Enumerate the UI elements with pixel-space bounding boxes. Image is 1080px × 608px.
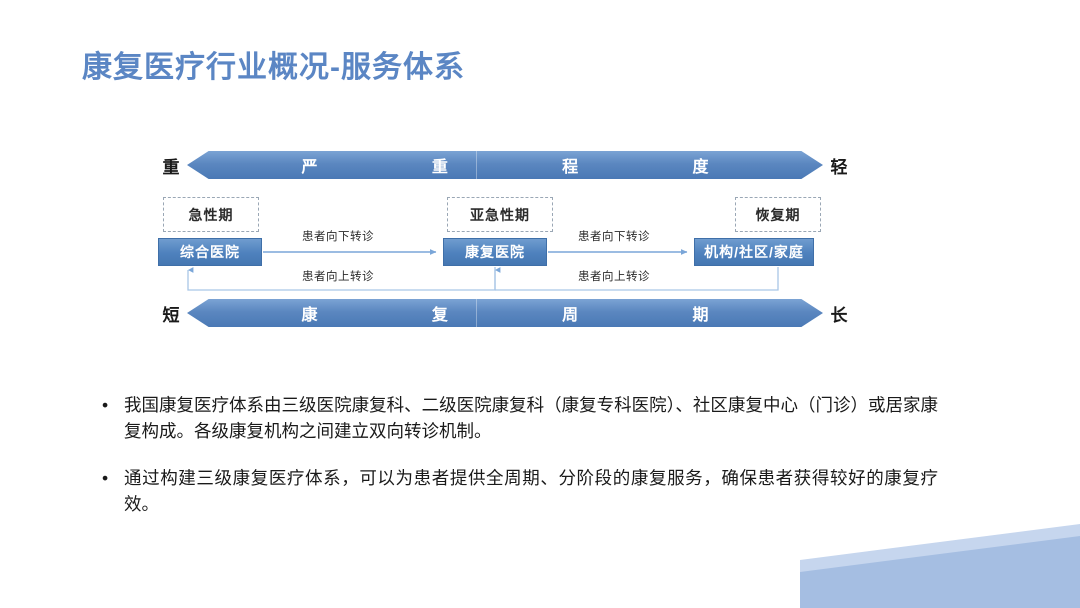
service-system-diagram: 重 严 重 程 度 轻 短 康 复 周 期 长 [0, 0, 1080, 340]
institution-box-general-hospital: 综合医院 [158, 238, 262, 266]
recovery-arrow-shape: 康 复 周 期 [187, 299, 823, 327]
recovery-words: 康 复 周 期 [301, 301, 708, 325]
severity-left-label: 重 [155, 153, 187, 178]
deco-band-dark [800, 536, 1080, 608]
severity-word-2: 程 [562, 153, 578, 177]
severity-word-0: 严 [301, 153, 317, 177]
bullet-text: 我国康复医疗体系由三级医院康复科、二级医院康复科（康复专科医院）、社区康复中心（… [124, 395, 938, 441]
severity-word-1: 重 [432, 153, 448, 177]
recovery-word-2: 周 [562, 301, 578, 325]
bullet-marker: • [102, 392, 108, 418]
referral-down-label-1: 患者向下转诊 [578, 228, 650, 244]
referral-up-label-1: 患者向上转诊 [578, 268, 650, 284]
recovery-word-0: 康 [301, 301, 317, 325]
list-item: • 通过构建三级康复医疗体系，可以为患者提供全周期、分阶段的康复服务，确保患者获… [98, 465, 938, 518]
referral-up-label-0: 患者向上转诊 [302, 268, 374, 284]
recovery-word-3: 期 [692, 301, 708, 325]
severity-banner: 重 严 重 程 度 轻 [155, 150, 855, 180]
phase-box-acute: 急性期 [163, 197, 259, 232]
bullet-list: • 我国康复医疗体系由三级医院康复科、二级医院康复科（康复专科医院）、社区康复中… [98, 392, 938, 537]
recovery-left-label: 短 [155, 301, 187, 326]
recovery-word-1: 复 [432, 301, 448, 325]
severity-arrow-shape: 严 重 程 度 [187, 151, 823, 179]
recovery-right-label: 长 [823, 301, 855, 326]
severity-word-3: 度 [692, 153, 708, 177]
referral-down-label-0: 患者向下转诊 [302, 228, 374, 244]
institution-box-community-home: 机构/社区/家庭 [694, 238, 814, 266]
severity-right-label: 轻 [823, 153, 855, 178]
severity-words: 严 重 程 度 [301, 153, 708, 177]
phase-box-recovery: 恢复期 [735, 197, 821, 232]
list-item: • 我国康复医疗体系由三级医院康复科、二级医院康复科（康复专科医院）、社区康复中… [98, 392, 938, 445]
phase-box-subacute: 亚急性期 [447, 197, 553, 232]
bullet-text: 通过构建三级康复医疗体系，可以为患者提供全周期、分阶段的康复服务，确保患者获得较… [124, 468, 938, 514]
recovery-cycle-banner: 短 康 复 周 期 长 [155, 298, 855, 328]
bullet-marker: • [102, 465, 108, 491]
institution-box-rehab-hospital: 康复医院 [443, 238, 547, 266]
